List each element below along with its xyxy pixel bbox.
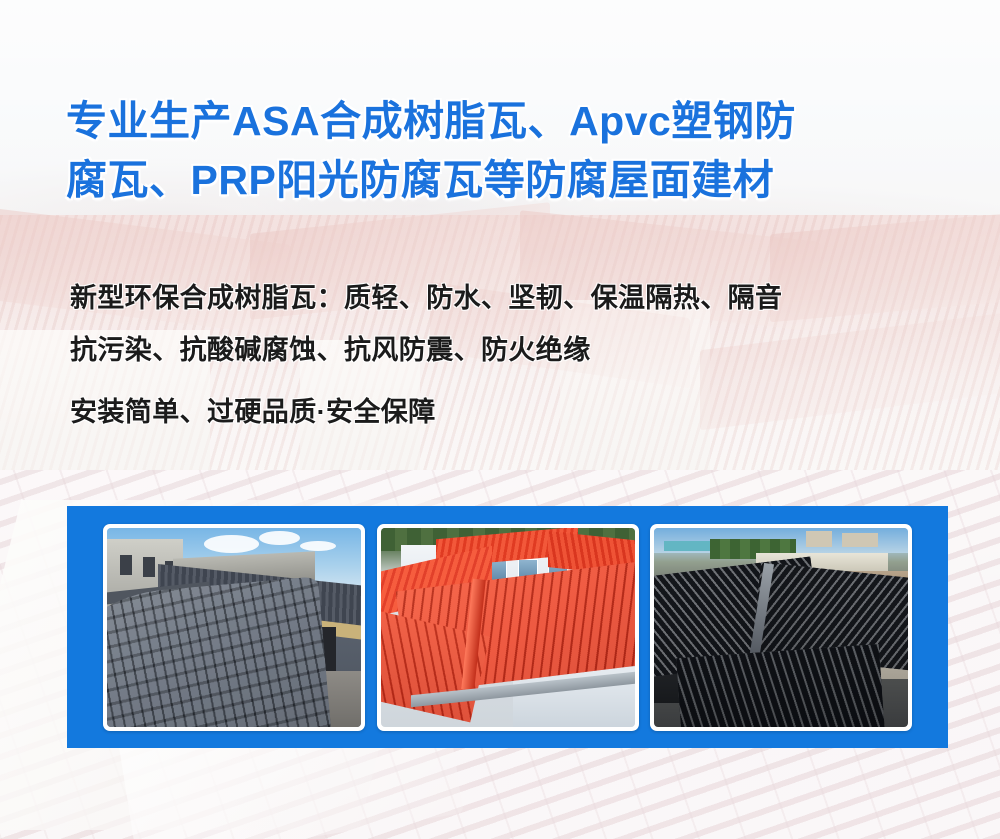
subcopy-line-2: 抗污染、抗酸碱腐蚀、抗风防震、防火绝缘	[70, 324, 960, 376]
red-tile-roof-photo	[381, 528, 635, 727]
photo-main-roof	[107, 576, 332, 726]
photo-window	[120, 555, 133, 575]
photo-window	[143, 557, 156, 577]
gallery-photo-1[interactable]	[103, 524, 365, 731]
grey-tile-roof-photo	[107, 528, 361, 727]
gallery-photo-3[interactable]	[650, 524, 912, 731]
photo-roof-front	[677, 644, 886, 727]
headline-line-2: 腐瓦、PRP阳光防腐瓦等防腐屋面建材	[66, 151, 946, 210]
banner-subcopy: 新型环保合成树脂瓦：质轻、防水、坚韧、保温隔热、隔音 抗污染、抗酸碱腐蚀、抗风防…	[70, 272, 960, 438]
headline-line-1: 专业生产ASA合成树脂瓦、Apvc塑钢防	[66, 92, 946, 151]
black-tile-roof-photo	[654, 528, 908, 727]
product-banner: 专业生产ASA合成树脂瓦、Apvc塑钢防 腐瓦、PRP阳光防腐瓦等防腐屋面建材 …	[0, 0, 1000, 839]
photo-teal-roof	[664, 541, 715, 551]
product-photo-gallery	[67, 506, 948, 748]
banner-headline: 专业生产ASA合成树脂瓦、Apvc塑钢防 腐瓦、PRP阳光防腐瓦等防腐屋面建材	[66, 92, 946, 210]
photo-far-building	[806, 531, 831, 547]
subcopy-line-1: 新型环保合成树脂瓦：质轻、防水、坚韧、保温隔热、隔音	[70, 272, 960, 324]
subcopy-line-3: 安装简单、过硬品质·安全保障	[70, 386, 960, 438]
gallery-photo-2[interactable]	[377, 524, 639, 731]
photo-far-building	[842, 533, 878, 547]
